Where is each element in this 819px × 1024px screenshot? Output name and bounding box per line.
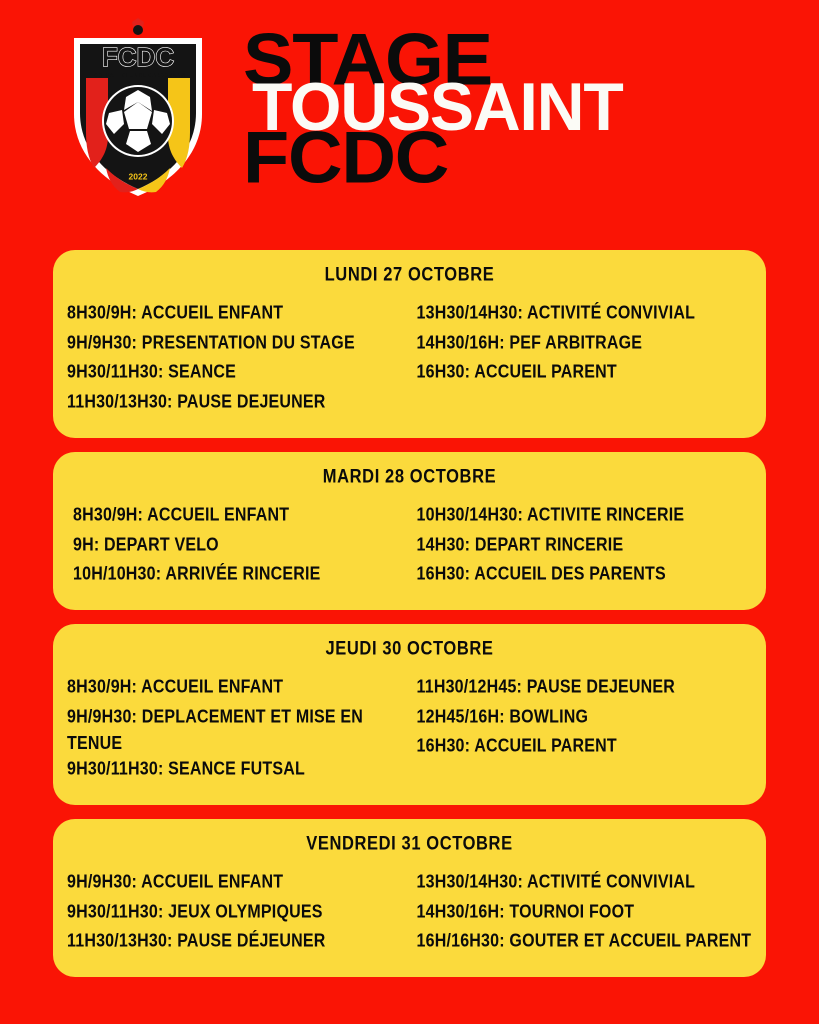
schedule-entry: 9H/9H30: PRESENTATION DU STAGE <box>67 331 405 357</box>
schedule-entry: 14H30: DEPART RINCERIE <box>417 533 755 559</box>
crest-club-name: FOOTBALL CLUB DU CARDONNAIS <box>91 73 186 79</box>
schedule-day-title: JEUDI 30 OCTOBRE <box>53 638 766 660</box>
schedule-entry: 16H/16H30: GOUTER ET ACCUEIL PARENT <box>417 929 755 955</box>
schedule-entry: 12H45/16H: BOWLING <box>417 705 755 731</box>
poster-title-block: STAGE TOUSSAINT FCDC <box>240 22 800 182</box>
schedule-column-left: 8H30/9H: ACCUEIL ENFANT9H: DEPART VELO10… <box>65 503 411 592</box>
schedule-entry: 16H30: ACCUEIL PARENT <box>417 360 755 386</box>
schedule-entry: 11H30/13H30: PAUSE DEJEUNER <box>67 390 405 416</box>
schedule-day-title: LUNDI 27 OCTOBRE <box>53 264 766 286</box>
schedule-entry: 13H30/14H30: ACTIVITÉ CONVIVIAL <box>417 301 755 327</box>
schedule-entry: 16H30: ACCUEIL PARENT <box>417 734 755 760</box>
schedule-entry: 13H30/14H30: ACTIVITÉ CONVIVIAL <box>417 870 755 896</box>
poster-header: FCDC FOOTBALL CLUB DU CARDONNAIS 2022 ST… <box>0 0 819 222</box>
schedule-entry: 14H30/16H: TOURNOI FOOT <box>417 900 755 926</box>
schedule-entry: 9H30/11H30: JEUX OLYMPIQUES <box>67 900 405 926</box>
schedule-column-right: 13H30/14H30: ACTIVITÉ CONVIVIAL14H30/16H… <box>411 301 757 420</box>
schedule-column-right: 11H30/12H45: PAUSE DEJEUNER12H45/16H: BO… <box>411 675 757 787</box>
schedule-column-right: 10H30/14H30: ACTIVITE RINCERIE14H30: DEP… <box>411 503 757 592</box>
crest-founded-year: 2022 <box>129 172 148 182</box>
schedule-columns: 8H30/9H: ACCUEIL ENFANT9H: DEPART VELO10… <box>53 503 766 592</box>
crest-initials: FCDC <box>102 42 174 72</box>
schedule-column-left: 8H30/9H: ACCUEIL ENFANT9H/9H30: PRESENTA… <box>65 301 411 420</box>
schedule-column-right: 13H30/14H30: ACTIVITÉ CONVIVIAL14H30/16H… <box>411 870 757 959</box>
schedule-entry: 10H/10H30: ARRIVÉE RINCERIE <box>67 562 405 588</box>
fcdc-club-crest-logo: FCDC FOOTBALL CLUB DU CARDONNAIS 2022 <box>62 18 214 198</box>
schedule-cards-container: LUNDI 27 OCTOBRE8H30/9H: ACCUEIL ENFANT9… <box>53 250 766 991</box>
schedule-entry: 16H30: ACCUEIL DES PARENTS <box>417 562 755 588</box>
schedule-entry: 9H/9H30: ACCUEIL ENFANT <box>67 870 405 896</box>
schedule-entry: 14H30/16H: PEF ARBITRAGE <box>417 331 755 357</box>
schedule-entry: 10H30/14H30: ACTIVITE RINCERIE <box>417 503 755 529</box>
schedule-day-card: JEUDI 30 OCTOBRE8H30/9H: ACCUEIL ENFANT9… <box>53 624 766 805</box>
schedule-day-card: MARDI 28 OCTOBRE8H30/9H: ACCUEIL ENFANT9… <box>53 452 766 610</box>
schedule-day-card: VENDREDI 31 OCTOBRE9H/9H30: ACCUEIL ENFA… <box>53 819 766 977</box>
schedule-day-card: LUNDI 27 OCTOBRE8H30/9H: ACCUEIL ENFANT9… <box>53 250 766 438</box>
schedule-columns: 8H30/9H: ACCUEIL ENFANT9H/9H30: PRESENTA… <box>53 301 766 420</box>
schedule-day-title: VENDREDI 31 OCTOBRE <box>53 833 766 855</box>
schedule-entry: 11H30/12H45: PAUSE DEJEUNER <box>417 675 755 701</box>
schedule-entry: 8H30/9H: ACCUEIL ENFANT <box>67 675 405 701</box>
schedule-columns: 9H/9H30: ACCUEIL ENFANT9H30/11H30: JEUX … <box>53 870 766 959</box>
schedule-entry: 9H30/11H30: SEANCE <box>67 360 405 386</box>
schedule-columns: 8H30/9H: ACCUEIL ENFANT9H/9H30: DEPLACEM… <box>53 675 766 787</box>
schedule-entry: 8H30/9H: ACCUEIL ENFANT <box>67 301 405 327</box>
schedule-entry: 9H/9H30: DEPLACEMENT ET MISE EN TENUE <box>67 705 405 758</box>
schedule-column-left: 9H/9H30: ACCUEIL ENFANT9H30/11H30: JEUX … <box>65 870 411 959</box>
schedule-entry: 11H30/13H30: PAUSE DÉJEUNER <box>67 929 405 955</box>
schedule-entry: 9H: DEPART VELO <box>67 533 405 559</box>
schedule-entry: 8H30/9H: ACCUEIL ENFANT <box>67 503 405 529</box>
schedule-day-title: MARDI 28 OCTOBRE <box>53 466 766 488</box>
crest-icon: FCDC FOOTBALL CLUB DU CARDONNAIS 2022 <box>62 18 214 198</box>
schedule-entry: 9H30/11H30: SEANCE FUTSAL <box>67 757 405 783</box>
schedule-column-left: 8H30/9H: ACCUEIL ENFANT9H/9H30: DEPLACEM… <box>65 675 411 787</box>
poster-root: FCDC FOOTBALL CLUB DU CARDONNAIS 2022 ST… <box>0 0 819 1024</box>
title-line-toussaint: TOUSSAINT <box>252 78 623 139</box>
